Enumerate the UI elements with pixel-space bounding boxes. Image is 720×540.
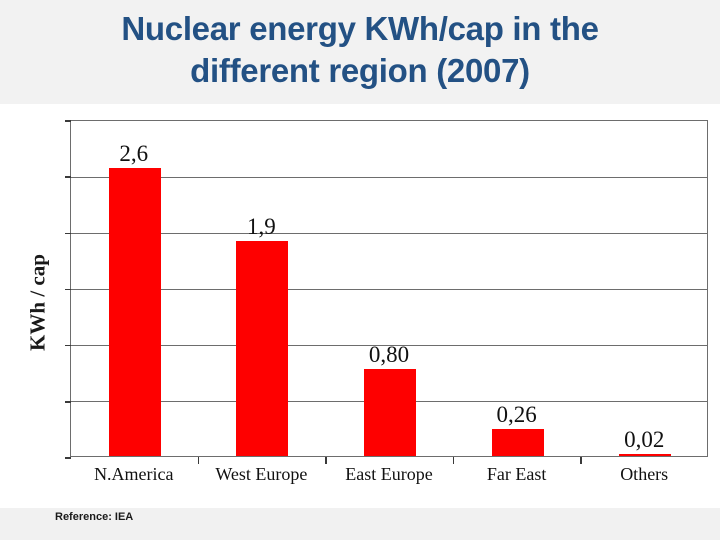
gridline (71, 177, 707, 178)
x-axis-tick (580, 457, 582, 464)
x-axis-category-label: Others (574, 464, 714, 485)
y-axis-tick (65, 457, 71, 459)
slide-canvas: Nuclear energy KWh/cap in the different … (0, 0, 720, 540)
y-axis-tick (65, 120, 71, 122)
x-axis-tick (325, 457, 327, 464)
bar-value-label: 2,6 (79, 141, 189, 167)
x-axis-category-label: East Europe (319, 464, 459, 485)
bar-n-america (109, 168, 161, 456)
x-axis-tick (453, 457, 455, 464)
bar-others (619, 454, 671, 457)
plot-area (70, 120, 708, 457)
y-axis-tick (65, 176, 71, 178)
x-axis-category-label: West Europe (191, 464, 331, 485)
x-axis-category-label: N.America (64, 464, 204, 485)
y-axis-tick (65, 345, 71, 347)
bar-value-label: 1,9 (206, 214, 316, 240)
bar-value-label: 0,02 (589, 427, 699, 453)
gridline (71, 233, 707, 234)
bar-east-europe (364, 369, 416, 456)
x-axis-category-label: Far East (447, 464, 587, 485)
page-title: Nuclear energy KWh/cap in the different … (40, 8, 680, 92)
bar-value-label: 0,26 (462, 402, 572, 428)
bar-chart: KWh / cap 05001,0001,5002,0002,5003,0002… (0, 104, 720, 508)
reference-note: Reference: IEA (55, 511, 133, 523)
bar-far-east (492, 429, 544, 456)
bar-value-label: 0,80 (334, 342, 444, 368)
x-axis-tick (198, 457, 200, 464)
y-axis-tick (65, 289, 71, 291)
bar-west-europe (236, 241, 288, 456)
y-axis-tick (65, 233, 71, 235)
gridline (71, 289, 707, 290)
y-axis-title: KWh / cap (26, 243, 51, 363)
y-axis-tick (65, 401, 71, 403)
